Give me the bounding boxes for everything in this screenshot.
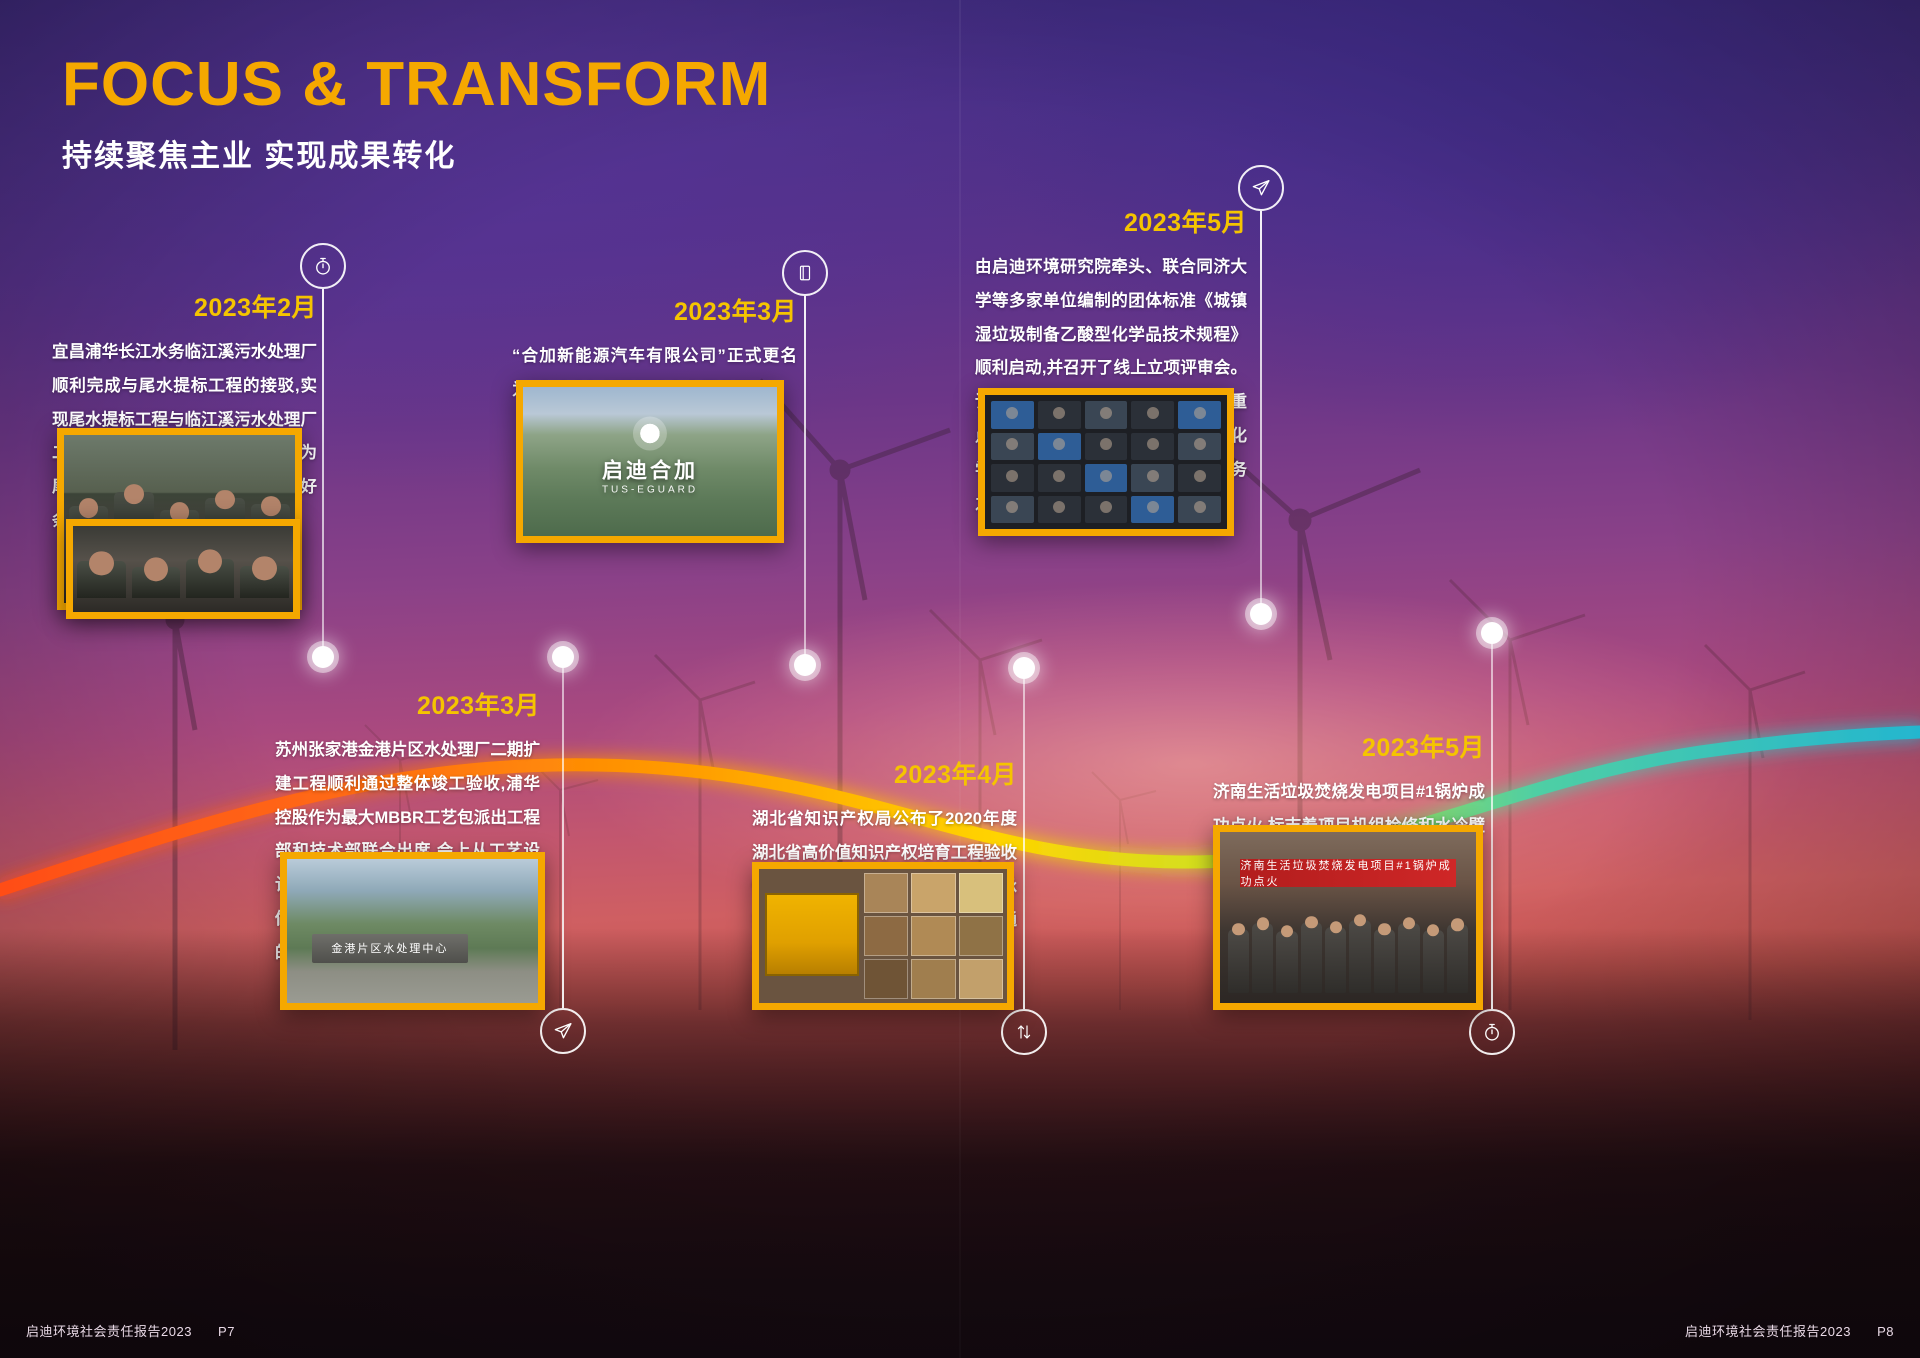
footer-left: 启迪环境社会责任报告2023 P7 xyxy=(26,1321,235,1340)
entry-date: 2023年5月 xyxy=(975,203,1247,239)
timeline-node[interactable] xyxy=(1250,603,1272,625)
page-title: FOCUS & TRANSFORM xyxy=(62,52,771,117)
send-icon xyxy=(540,1008,586,1054)
photo-figures xyxy=(77,545,288,598)
photo-content: 金港片区水处理中心 xyxy=(287,859,538,1003)
page-header: FOCUS & TRANSFORM 持续聚焦主业 实现成果转化 xyxy=(62,52,771,175)
entry-date: 2023年4月 xyxy=(752,755,1017,791)
entry-date: 2023年3月 xyxy=(512,292,797,328)
footer-right-text: 启迪环境社会责任报告2023 xyxy=(1685,1324,1851,1339)
timeline-stem xyxy=(562,668,564,1008)
stopwatch-icon xyxy=(1469,1009,1515,1055)
entry-date: 2023年5月 xyxy=(1213,728,1485,764)
entry-date: 2023年3月 xyxy=(275,686,540,722)
timeline-stem xyxy=(804,296,806,664)
photo-content xyxy=(985,395,1227,529)
entry-photo-apr-2023 xyxy=(752,862,1014,1010)
pellet-machine xyxy=(765,893,859,976)
footer-right: 启迪环境社会责任报告2023 P8 xyxy=(1685,1321,1894,1340)
entry-photo-feb-2023-alt xyxy=(66,519,300,619)
brand-mark-icon xyxy=(633,416,667,450)
timeline-node[interactable] xyxy=(1481,622,1503,644)
book-icon xyxy=(782,250,828,296)
timeline-stem xyxy=(322,289,324,657)
page-gutter xyxy=(959,0,961,1358)
timeline-node[interactable] xyxy=(312,646,334,668)
report-spread: FOCUS & TRANSFORM 持续聚焦主业 实现成果转化 xyxy=(0,0,1920,1358)
material-samples-grid xyxy=(864,873,1003,999)
page-subtitle: 持续聚焦主业 实现成果转化 xyxy=(62,131,771,175)
footer-left-page: P7 xyxy=(218,1324,235,1339)
photo-content xyxy=(73,526,293,612)
footer-right-page: P8 xyxy=(1877,1324,1894,1339)
entry-photo-may-2023-b: 济南生活垃圾焚烧发电项目#1锅炉成功点火 xyxy=(1213,825,1483,1010)
updown-arrows-icon xyxy=(1001,1009,1047,1055)
timeline-node[interactable] xyxy=(794,654,816,676)
entry-photo-mar-2023-a: 金港片区水处理中心 xyxy=(280,852,545,1010)
footer-left-text: 启迪环境社会责任报告2023 xyxy=(26,1324,192,1339)
timeline-stem xyxy=(1260,211,1262,613)
timeline-stem xyxy=(1023,679,1025,1009)
photo-logo: 启迪合加 TUS-EGUARD xyxy=(602,416,698,495)
brand-name-en: TUS-EGUARD xyxy=(602,484,698,495)
photo-banner-text: 济南生活垃圾焚烧发电项目#1锅炉成功点火 xyxy=(1240,859,1455,886)
photo-content xyxy=(759,869,1007,1003)
timeline-node[interactable] xyxy=(552,646,574,668)
gate-sign-text: 金港片区水处理中心 xyxy=(312,934,468,963)
entry-photo-mar-2023-b: 启迪合加 TUS-EGUARD xyxy=(516,380,784,543)
video-conference-grid xyxy=(991,401,1221,523)
entry-photo-may-2023-a xyxy=(978,388,1234,536)
photo-content: 启迪合加 TUS-EGUARD xyxy=(523,387,777,536)
entry-date: 2023年2月 xyxy=(52,288,317,324)
stopwatch-icon xyxy=(300,243,346,289)
brand-name-cn: 启迪合加 xyxy=(602,454,698,484)
timeline-node[interactable] xyxy=(1013,657,1035,679)
photo-group-figures xyxy=(1228,904,1469,993)
timeline-stem xyxy=(1491,644,1493,1009)
photo-content: 济南生活垃圾焚烧发电项目#1锅炉成功点火 xyxy=(1220,832,1476,1003)
